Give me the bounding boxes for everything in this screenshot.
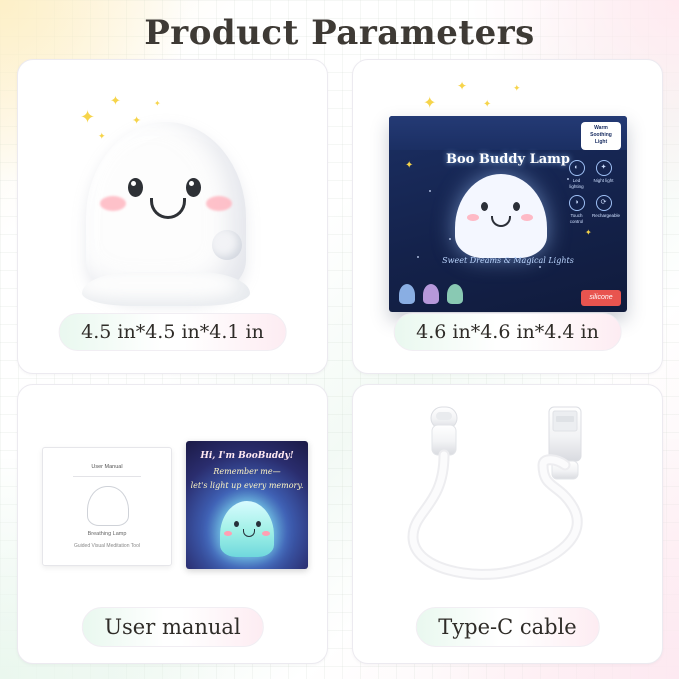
feature-icon-2: ◑ Touch control (565, 195, 588, 225)
card-package: ✦ ✦ ✦ ✦ Boo Buddy Lamp Sweet Dreams & Ma… (352, 59, 663, 374)
box-tagline: Sweet Dreams & Magical Lights (389, 256, 627, 265)
blush-left (100, 196, 126, 211)
poster-eye-right-icon (256, 521, 261, 527)
user-manual-illustration: User Manual Breathing Lamp Guided Visual… (42, 447, 172, 566)
product-parameters-page: Product Parameters ✦ ✦ ✦ ✦ ✦ 4.5 in*4.5 … (0, 0, 679, 679)
star-icon: ✦ (423, 96, 436, 112)
card-cable: Type-C cable (352, 384, 663, 664)
mini-ghost-green (447, 284, 463, 304)
poster-eye-left-icon (234, 521, 239, 527)
material-label: silicone (581, 290, 621, 306)
night-light-icon: ✦ (596, 160, 612, 176)
box-feature-icon-grid: ◐ Led lighting ✦ Night light ◑ Touch con… (565, 160, 619, 230)
mini-ghost-purple (423, 284, 439, 304)
box-eye-right-icon (513, 202, 520, 211)
package-dimensions-caption: 4.6 in*4.6 in*4.4 in (393, 313, 622, 351)
manual-caption: User manual (81, 607, 263, 647)
manual-line-2: Guided Visual Meditation Tool (43, 543, 171, 549)
page-title: Product Parameters (0, 13, 679, 53)
star-icon: ✦ (483, 100, 491, 110)
star-icon: ✦ (98, 132, 106, 141)
cable-caption: Type-C cable (415, 607, 599, 647)
product-box-illustration: Boo Buddy Lamp Sweet Dreams & Magical Li… (389, 116, 627, 312)
badge-line-3: Light (581, 139, 621, 146)
poster-blush-left (224, 531, 232, 536)
box-star-icon: ✦ (405, 160, 413, 171)
box-star-icon: ✦ (585, 228, 592, 237)
led-lighting-icon: ◐ (569, 160, 585, 176)
feature-icon-3-label: Rechargeable (592, 213, 620, 218)
lamp-dimensions-caption: 4.5 in*4.5 in*4.1 in (58, 313, 287, 351)
poster-line-3: let's light up every memory. (186, 481, 308, 490)
poster-line-2: Remember me— (186, 467, 308, 476)
rechargeable-icon: ⟳ (596, 195, 612, 211)
badge-line-1: Warm (581, 125, 621, 132)
ghost-night-light-illustration: ✦ ✦ ✦ ✦ ✦ (18, 60, 327, 330)
poster-blush-right (262, 531, 270, 536)
touch-control-icon: ◑ (569, 195, 585, 211)
card-manual: User Manual Breathing Lamp Guided Visual… (17, 384, 328, 664)
card-lamp: ✦ ✦ ✦ ✦ ✦ 4.5 in*4.5 in*4.1 in (17, 59, 328, 374)
ghost-hand (212, 230, 242, 260)
type-c-connector (431, 407, 457, 455)
manual-ghost-outline (87, 486, 129, 526)
feature-icon-1-label: Night light (593, 178, 613, 183)
feature-icon-1: ✦ Night light (592, 160, 615, 190)
badge-line-2: Soothing (581, 132, 621, 139)
feature-icon-0-label: Led lighting (569, 178, 583, 189)
feature-icon-3: ⟳ Rechargeable (592, 195, 615, 225)
box-eye-left-icon (481, 202, 488, 211)
mini-ghost-blue (399, 284, 415, 304)
usb-type-c-cable-illustration (353, 385, 662, 615)
blush-right (206, 196, 232, 211)
manual-cover-title: User Manual (43, 464, 171, 470)
star-icon: ✦ (513, 84, 521, 93)
box-blush-left (467, 214, 479, 221)
box-blush-right (521, 214, 533, 221)
star-icon: ✦ (80, 108, 95, 126)
manual-line-1: Breathing Lamp (43, 531, 171, 537)
feature-icon-0: ◐ Led lighting (565, 160, 588, 190)
star-icon: ✦ (132, 116, 141, 127)
star-icon: ✦ (154, 100, 161, 108)
eye-right-icon (186, 178, 201, 197)
star-icon: ✦ (457, 80, 467, 92)
feature-icon-2-label: Touch control (570, 213, 584, 224)
star-icon: ✦ (110, 94, 121, 107)
box-mini-ghost-row (399, 284, 463, 304)
eye-left-icon (128, 178, 143, 197)
poster-line-1: Hi, I'm BooBuddy! (186, 451, 308, 461)
box-feature-badge: Warm Soothing Light (581, 122, 621, 150)
poster-illustration: Hi, I'm BooBuddy! Remember me— let's lig… (186, 441, 308, 569)
